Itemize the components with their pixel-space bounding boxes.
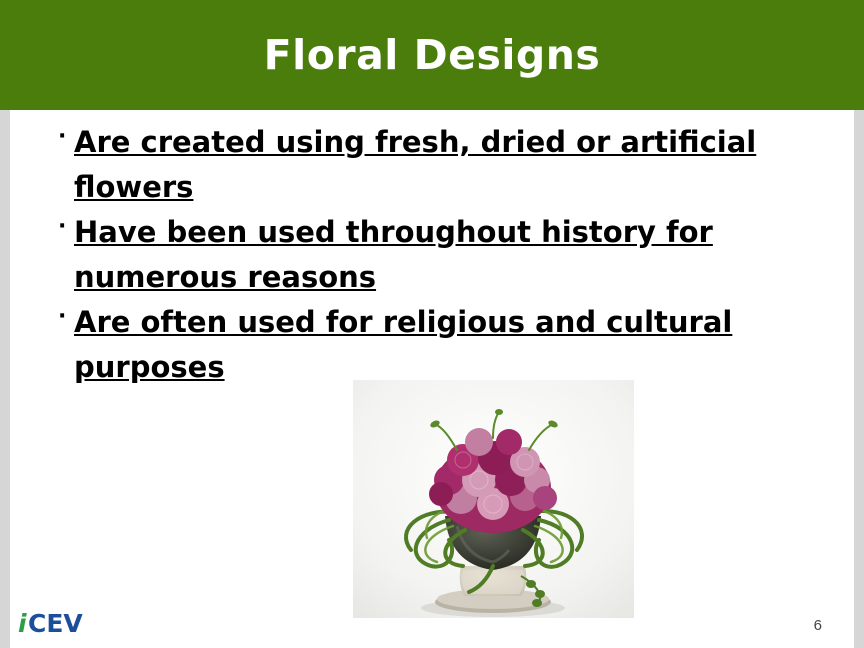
bullet-dot-icon: · <box>58 300 66 333</box>
bullet-dot-icon: · <box>58 210 66 243</box>
slide: Floral Designs · Are created using fresh… <box>0 0 864 648</box>
bullet-text: Are often used for religious and cultura… <box>74 305 732 384</box>
slide-left-border <box>0 110 10 648</box>
floral-arrangement-photo <box>353 380 634 618</box>
svg-text:i: i <box>18 609 27 638</box>
icev-logo: i CEV <box>18 608 108 638</box>
slide-title-bar: Floral Designs <box>0 0 864 110</box>
bullet-dot-icon: · <box>58 120 66 153</box>
slide-body: · Are created using fresh, dried or arti… <box>52 120 832 390</box>
bullet-text: Are created using fresh, dried or artifi… <box>74 125 756 204</box>
svg-text:CEV: CEV <box>28 609 83 638</box>
list-item: · Have been used throughout history for … <box>52 210 832 300</box>
list-item: · Are created using fresh, dried or arti… <box>52 120 832 210</box>
page-title: Floral Designs <box>264 35 601 76</box>
bullet-list: · Are created using fresh, dried or arti… <box>52 120 832 390</box>
list-item: · Are often used for religious and cultu… <box>52 300 832 390</box>
bullet-text: Have been used throughout history for nu… <box>74 215 713 294</box>
slide-right-border <box>854 110 864 648</box>
page-number: 6 <box>814 617 822 634</box>
